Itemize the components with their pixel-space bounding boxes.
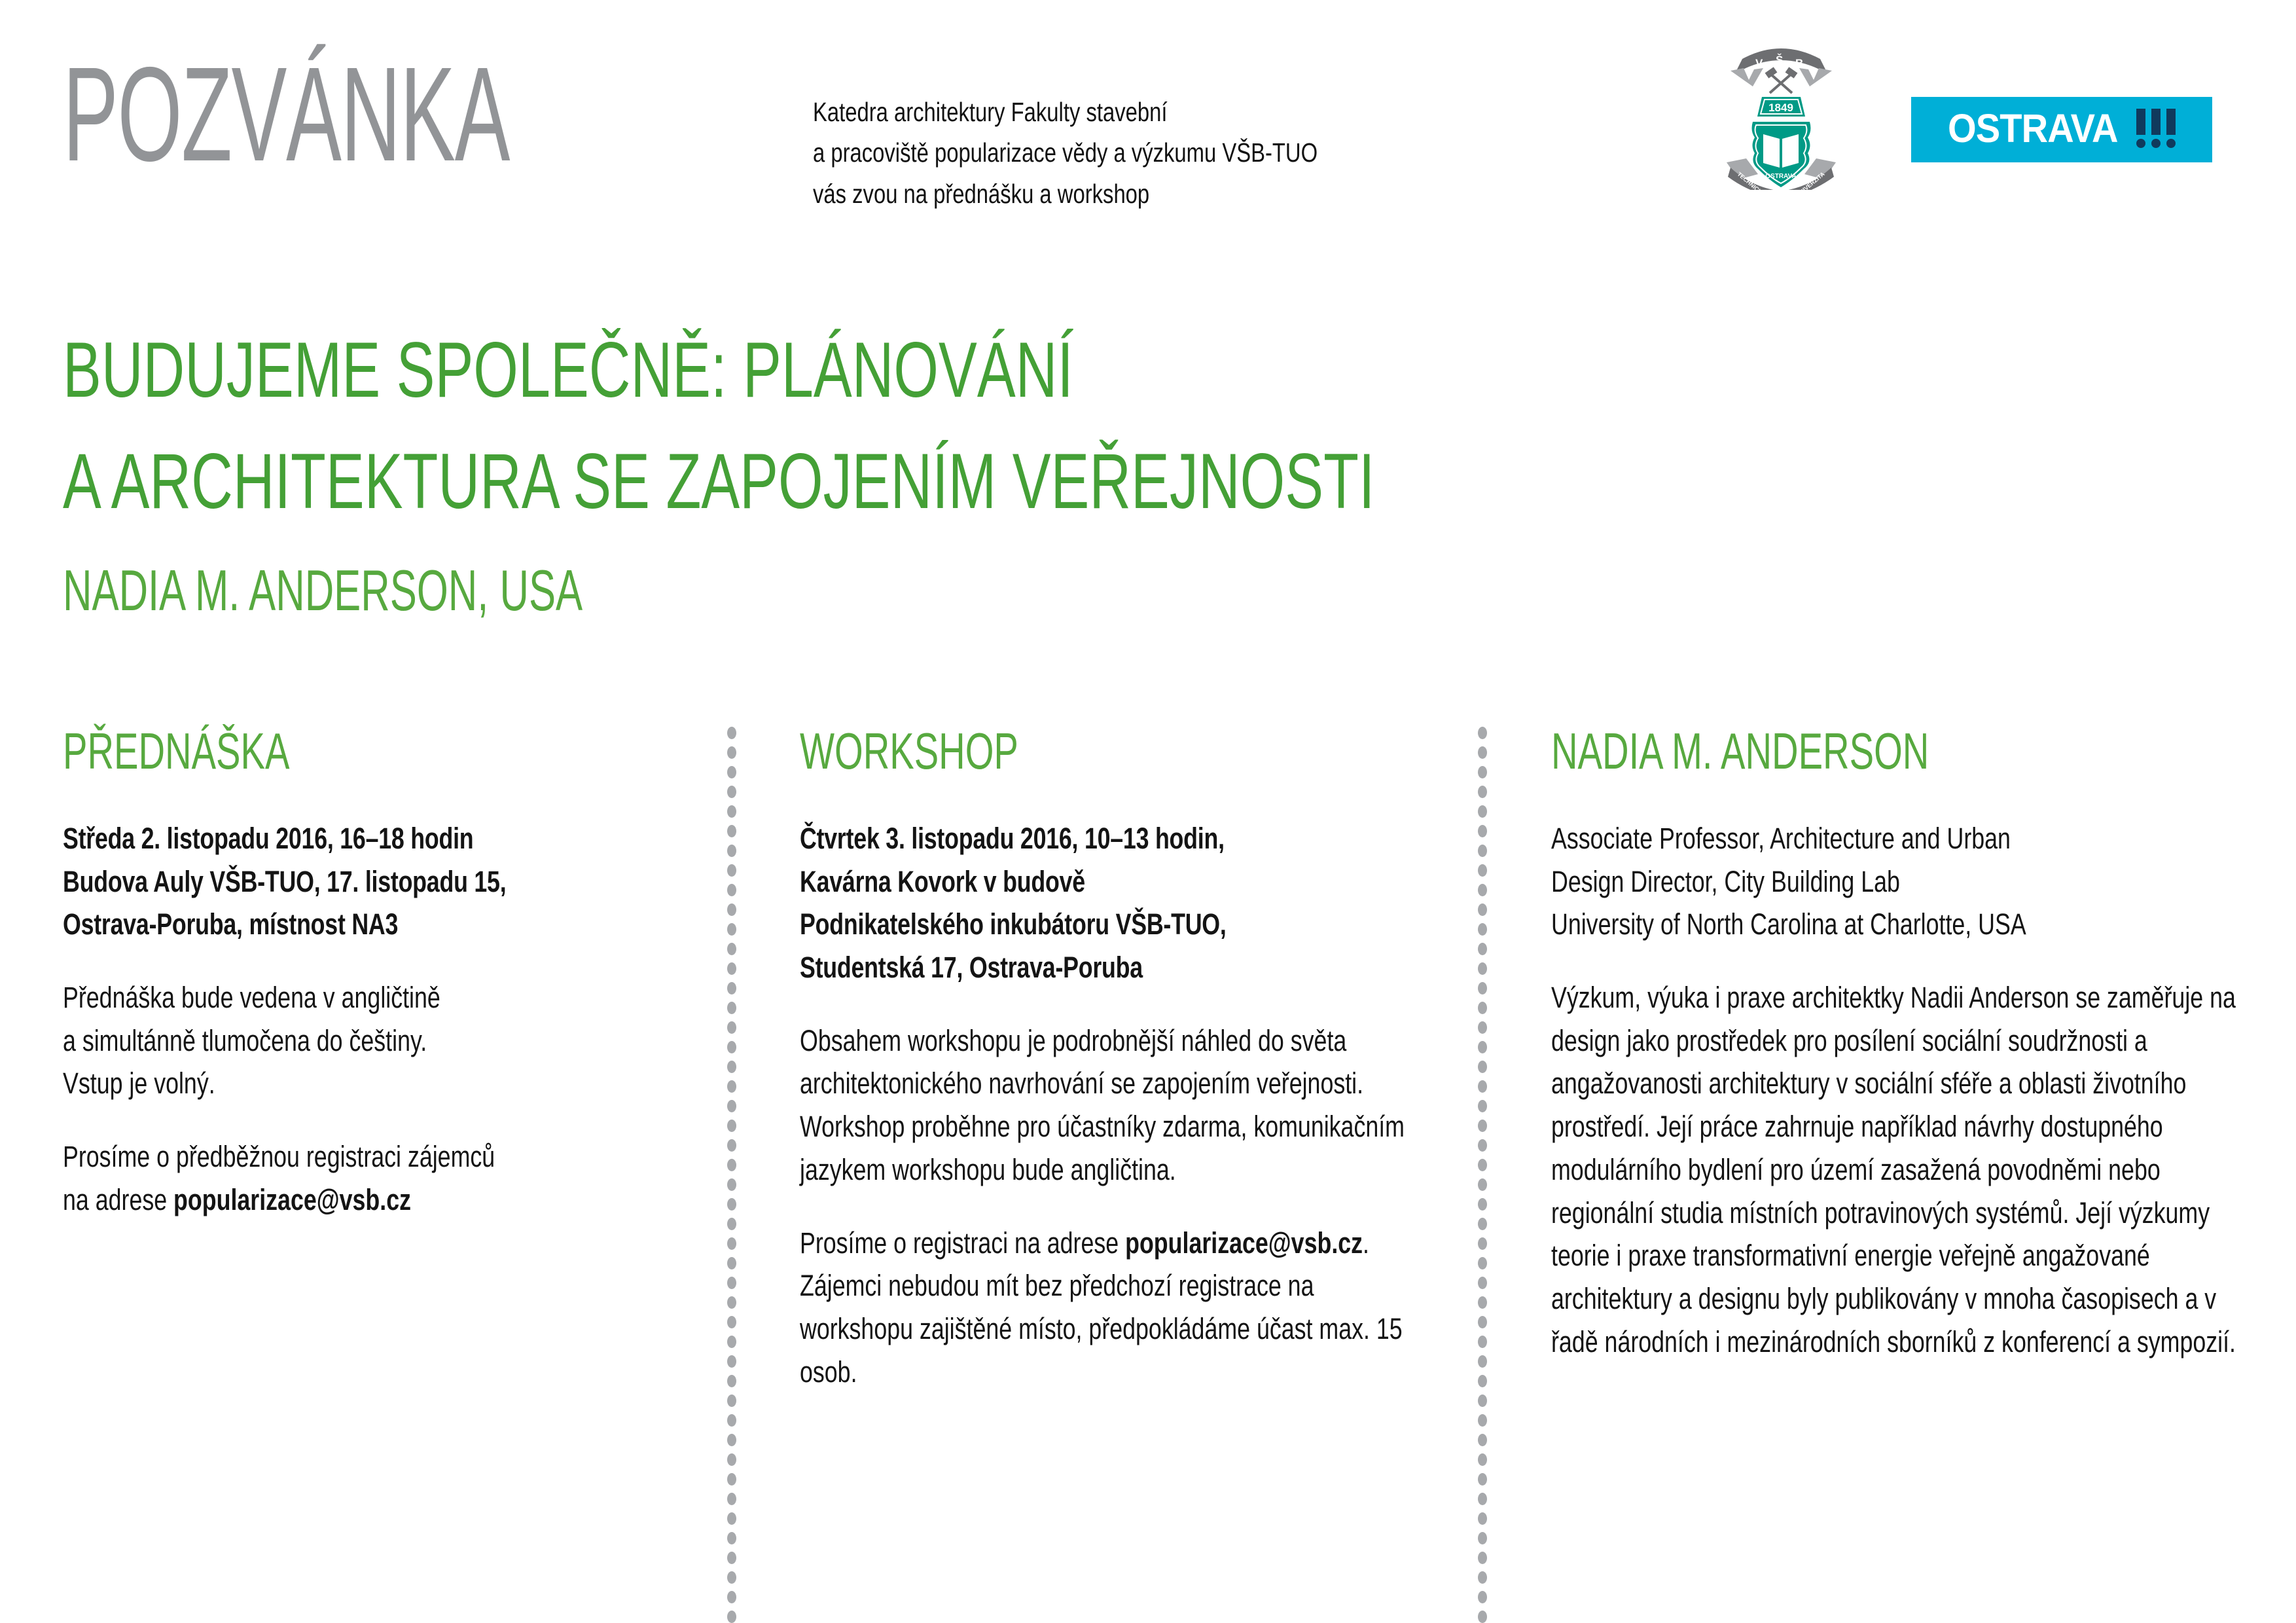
column-separator-2 bbox=[1478, 727, 1487, 1623]
separator-dot bbox=[1478, 1532, 1487, 1544]
workshop-paragraph-1: Obsahem workshopu je podrobnější náhled … bbox=[800, 1019, 1429, 1192]
separator-dot bbox=[727, 1218, 736, 1230]
separator-dot bbox=[1478, 1100, 1487, 1112]
separator-dot bbox=[727, 1375, 736, 1387]
workshop-registration-text: Prosíme o registraci na adrese bbox=[800, 1226, 1125, 1260]
vsb-banner-text: V bbox=[1755, 57, 1763, 69]
vsb-year: 1849 bbox=[1768, 101, 1793, 114]
column-lecture-body: Středa 2. listopadu 2016, 16–18 hodinBud… bbox=[63, 817, 666, 1222]
separator-dot bbox=[1478, 1139, 1487, 1152]
separator-dot bbox=[1478, 884, 1487, 896]
separator-dot bbox=[1478, 1296, 1487, 1309]
separator-dot bbox=[1478, 1591, 1487, 1603]
crossed-hammers-icon bbox=[1765, 67, 1798, 93]
separator-dot bbox=[727, 1296, 736, 1309]
column-workshop: WORKSHOP Čtvrtek 3. listopadu 2016, 10–1… bbox=[800, 725, 1428, 1393]
separator-dot bbox=[1478, 1002, 1487, 1014]
separator-dot bbox=[1478, 903, 1487, 916]
separator-dot bbox=[727, 982, 736, 994]
column-speaker: NADIA M. ANDERSON Associate Professor, A… bbox=[1551, 725, 2238, 1363]
separator-dot bbox=[1478, 1552, 1487, 1564]
separator-dot bbox=[1478, 1277, 1487, 1289]
separator-dot bbox=[727, 805, 736, 818]
separator-dot bbox=[1478, 1021, 1487, 1034]
separator-dot bbox=[727, 1237, 736, 1250]
separator-dot bbox=[1478, 923, 1487, 936]
separator-dot bbox=[727, 1355, 736, 1368]
separator-dot bbox=[727, 1178, 736, 1191]
separator-dot bbox=[727, 1139, 736, 1152]
separator-dot bbox=[1478, 962, 1487, 975]
separator-dot bbox=[727, 727, 736, 739]
invitation-line-1: Katedra architektury Fakulty stavební bbox=[813, 92, 1318, 132]
separator-dot bbox=[727, 1257, 736, 1269]
open-book-icon bbox=[1763, 134, 1799, 168]
workshop-paragraph-2: Prosíme o registraci na adrese populariz… bbox=[800, 1222, 1429, 1394]
separator-dot bbox=[727, 1041, 736, 1053]
separator-dot bbox=[1478, 1512, 1487, 1525]
separator-dot bbox=[727, 903, 736, 916]
speaker-bio: Výzkum, výuka i praxe architektky Nadii … bbox=[1551, 976, 2240, 1363]
separator-dot bbox=[1478, 1395, 1487, 1407]
separator-dot bbox=[1478, 1453, 1487, 1466]
invitation-line-3: vás zvou na přednášku a workshop bbox=[813, 173, 1318, 214]
column-lecture: PŘEDNÁŠKA Středa 2. listopadu 2016, 16–1… bbox=[63, 725, 665, 1222]
separator-dot bbox=[1478, 746, 1487, 759]
separator-dot bbox=[1478, 786, 1487, 798]
invitation-intro: Katedra architektury Fakulty stavební a … bbox=[813, 92, 1318, 214]
headline-line-2: A ARCHITEKTURA SE ZAPOJENÍM VEŘEJNOSTI bbox=[63, 426, 1374, 537]
separator-dot bbox=[727, 1552, 736, 1564]
separator-dot bbox=[1478, 845, 1487, 857]
separator-dot bbox=[1478, 1493, 1487, 1505]
workshop-details: Čtvrtek 3. listopadu 2016, 10–13 hodin,K… bbox=[800, 817, 1429, 989]
svg-text:Š: Š bbox=[1776, 54, 1783, 66]
separator-dot bbox=[727, 1080, 736, 1093]
headline: BUDUJEME SPOLEČNĚ: PLÁNOVÁNÍ A ARCHITEKT… bbox=[63, 314, 1848, 538]
separator-dot bbox=[727, 1591, 736, 1603]
separator-dot bbox=[727, 943, 736, 955]
separator-dot bbox=[727, 962, 736, 975]
lecture-paragraph-1: Přednáška bude vedena v angličtiněa simu… bbox=[63, 976, 666, 1105]
separator-dot bbox=[1478, 1120, 1487, 1132]
column-lecture-title: PŘEDNÁŠKA bbox=[63, 725, 496, 776]
separator-dot bbox=[727, 1395, 736, 1407]
separator-dot bbox=[727, 1002, 736, 1014]
separator-dot bbox=[727, 1198, 736, 1211]
ostrava-logo: OSTRAVA bbox=[1911, 97, 2212, 162]
column-workshop-body: Čtvrtek 3. listopadu 2016, 10–13 hodin,K… bbox=[800, 817, 1429, 1393]
column-speaker-title: NADIA M. ANDERSON bbox=[1551, 725, 2046, 776]
separator-dot bbox=[727, 1434, 736, 1446]
separator-dot bbox=[727, 1061, 736, 1073]
column-workshop-title: WORKSHOP bbox=[800, 725, 1252, 776]
separator-dot bbox=[1478, 1473, 1487, 1486]
separator-dot bbox=[1478, 1414, 1487, 1427]
separator-dot bbox=[1478, 1041, 1487, 1053]
separator-dot bbox=[1478, 1355, 1487, 1368]
lecture-paragraph-2: Prosíme o předběžnou registraci zájemcůn… bbox=[63, 1135, 666, 1221]
separator-dot bbox=[727, 864, 736, 877]
vsb-tuo-logo: V Š B 1849 OSTRAVA TECHNICKÁ UNIVERZITA bbox=[1724, 39, 1839, 190]
separator-dot bbox=[1478, 1434, 1487, 1446]
separator-dot bbox=[1478, 1611, 1487, 1623]
separator-dot bbox=[1478, 1198, 1487, 1211]
ostrava-wordmark: OSTRAVA bbox=[1948, 109, 2118, 149]
separator-dot bbox=[1478, 1159, 1487, 1171]
separator-dot bbox=[727, 766, 736, 778]
separator-dot bbox=[1478, 1218, 1487, 1230]
separator-dot bbox=[727, 1120, 736, 1132]
separator-dot bbox=[727, 786, 736, 798]
vsb-shield-city: OSTRAVA bbox=[1765, 173, 1796, 180]
separator-dot bbox=[1478, 805, 1487, 818]
separator-dot bbox=[727, 1336, 736, 1348]
separator-dot bbox=[727, 746, 736, 759]
separator-dot bbox=[1478, 1080, 1487, 1093]
separator-dot bbox=[727, 1414, 736, 1427]
separator-dot bbox=[727, 1473, 736, 1486]
separator-dot bbox=[1478, 864, 1487, 877]
headline-subtitle: NADIA M. ANDERSON, USA bbox=[63, 562, 583, 619]
separator-dot bbox=[727, 1277, 736, 1289]
column-speaker-body: Associate Professor, Architecture and Ur… bbox=[1551, 817, 2240, 1363]
lecture-details: Středa 2. listopadu 2016, 16–18 hodinBud… bbox=[63, 817, 666, 946]
column-separator-1 bbox=[727, 727, 736, 1623]
speaker-affiliation: Associate Professor, Architecture and Ur… bbox=[1551, 817, 2240, 946]
separator-dot bbox=[1478, 766, 1487, 778]
separator-dot bbox=[1478, 943, 1487, 955]
separator-dot bbox=[727, 825, 736, 837]
lecture-email[interactable]: popularizace@vsb.cz bbox=[173, 1183, 411, 1216]
separator-dot bbox=[1478, 1257, 1487, 1269]
separator-dot bbox=[1478, 1316, 1487, 1328]
separator-dot bbox=[727, 923, 736, 936]
invitation-line-2: a pracoviště popularizace vědy a výzkumu… bbox=[813, 132, 1318, 173]
separator-dot bbox=[1478, 1061, 1487, 1073]
separator-dot bbox=[1478, 1237, 1487, 1250]
workshop-email[interactable]: popularizace@vsb.cz bbox=[1125, 1226, 1363, 1260]
separator-dot bbox=[1478, 1336, 1487, 1348]
separator-dot bbox=[1478, 825, 1487, 837]
separator-dot bbox=[727, 1453, 736, 1466]
separator-dot bbox=[1478, 1178, 1487, 1191]
separator-dot bbox=[727, 1532, 736, 1544]
separator-dot bbox=[727, 1493, 736, 1505]
separator-dot bbox=[727, 1100, 736, 1112]
separator-dot bbox=[1478, 982, 1487, 994]
ostrava-exclamation-icon bbox=[2136, 109, 2176, 148]
page-title: POZVÁNKA bbox=[63, 51, 509, 179]
separator-dot bbox=[727, 884, 736, 896]
svg-text:B: B bbox=[1795, 57, 1803, 69]
separator-dot bbox=[1478, 727, 1487, 739]
separator-dot bbox=[727, 1512, 736, 1525]
separator-dot bbox=[727, 1571, 736, 1584]
separator-dot bbox=[727, 1316, 736, 1328]
separator-dot bbox=[727, 1021, 736, 1034]
headline-line-1: BUDUJEME SPOLEČNĚ: PLÁNOVÁNÍ bbox=[63, 314, 1374, 426]
separator-dot bbox=[1478, 1571, 1487, 1584]
separator-dot bbox=[727, 1611, 736, 1623]
separator-dot bbox=[727, 845, 736, 857]
separator-dot bbox=[1478, 1375, 1487, 1387]
separator-dot bbox=[727, 1159, 736, 1171]
